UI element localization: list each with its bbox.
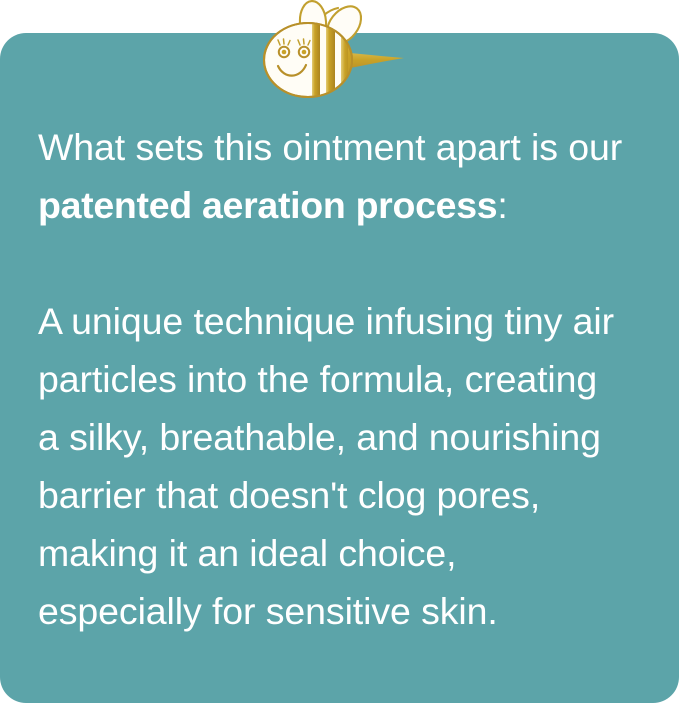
body-line: a silky, breathable, and nourishing [38, 408, 648, 466]
bee-graphic [252, 0, 412, 112]
card-copy: What sets this ointment apart is our pat… [38, 118, 648, 640]
body-paragraph: A unique technique infusing tiny air par… [38, 292, 648, 640]
body-line: barrier that doesn't clog pores, [38, 466, 648, 524]
lead-text-after-bold: : [497, 184, 507, 226]
body-line: particles into the formula, creating [38, 350, 648, 408]
lead-paragraph: What sets this ointment apart is our pat… [38, 118, 648, 234]
body-line: especially for sensitive skin. [38, 582, 648, 640]
body-line: making it an ideal choice, [38, 524, 648, 582]
lead-bold-emphasis: patented aeration process [38, 184, 497, 226]
lead-text-before-bold: What sets this ointment apart is our [38, 126, 622, 168]
body-line: A unique technique infusing tiny air [38, 292, 648, 350]
bee-illustration [252, 0, 412, 112]
